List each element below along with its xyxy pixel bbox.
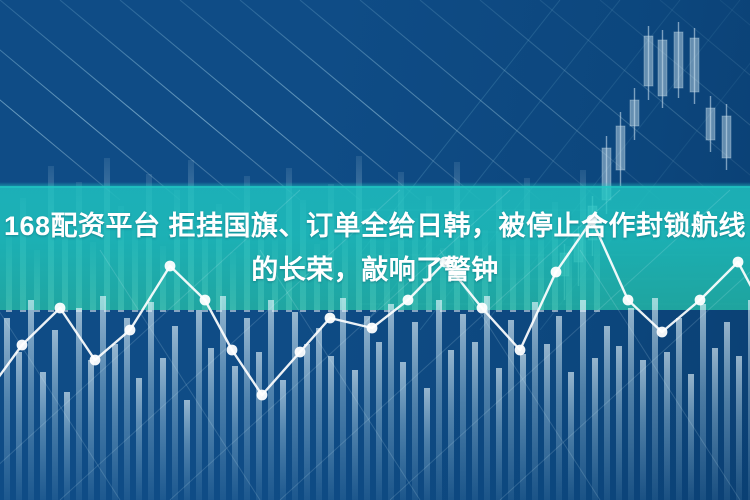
headline-line-2: 的长荣，敲响了警钟 — [251, 250, 499, 290]
headline-text: 168配资平台 拒挂国旗、订单全给日韩，被停止合作封锁航线 的长荣，敲响了警钟 — [0, 186, 750, 310]
headline-line-1: 168配资平台 拒挂国旗、订单全给日韩，被停止合作封锁航线 — [4, 206, 746, 246]
stock-banner-image: 168配资平台 拒挂国旗、订单全给日韩，被停止合作封锁航线 的长荣，敲响了警钟 — [0, 0, 750, 500]
